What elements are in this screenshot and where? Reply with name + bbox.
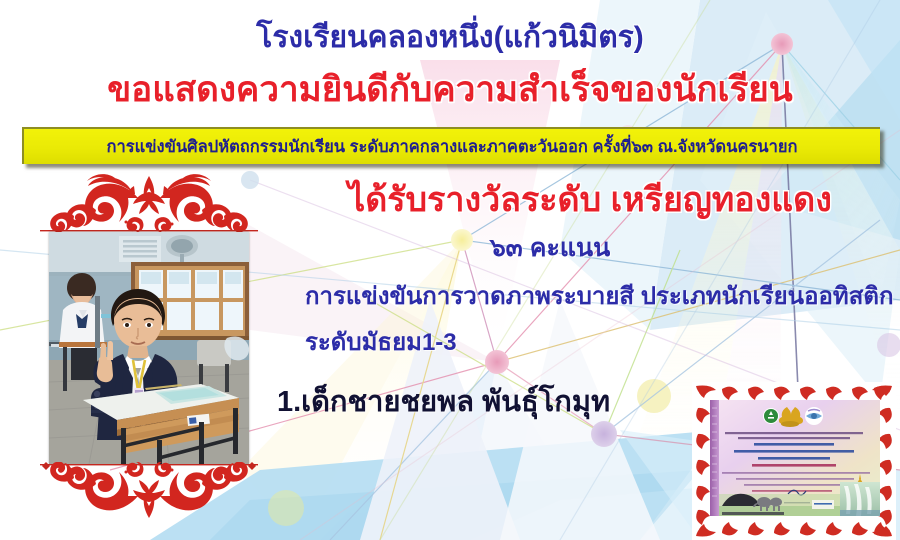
award-poster: โรงเรียนคลองหนึ่ง(แก้วนิมิตร) ขอแสดงความ… — [0, 0, 900, 540]
competition-banner-text: การแข่งขันศิลปหัตถกรรมนักเรียน ระดับภาคก… — [106, 134, 797, 160]
floral-flourish-top-icon — [38, 170, 260, 232]
score-text: ๖๓ คะแนน — [300, 228, 800, 268]
school-name-heading: โรงเรียนคลองหนึ่ง(แก้วนิมิตร) — [0, 14, 900, 61]
student-classroom-photo — [49, 232, 249, 464]
grade-level-text: ระดับมัธยม1-3 — [305, 322, 457, 361]
event-name-text: การแข่งขันการวาดภาพระบายสี ประเภทนักเรีย… — [305, 276, 890, 315]
photo-frame — [38, 170, 260, 525]
award-level-text: ได้รับรางวัลระดับ เหรียญทองแดง — [300, 172, 880, 226]
floral-flourish-bottom-icon — [38, 462, 260, 524]
congratulations-heading: ขอแสดงความยินดีกับความสำเร็จของนักเรียน — [0, 62, 900, 117]
student-name-text: 1.เด็กชายชยพล พันธุ์โกมุท — [277, 378, 610, 424]
competition-banner: การแข่งขันศิลปหัตถกรรมนักเรียน ระดับภาคก… — [22, 127, 880, 164]
award-certificate-thumbnail — [692, 382, 896, 540]
